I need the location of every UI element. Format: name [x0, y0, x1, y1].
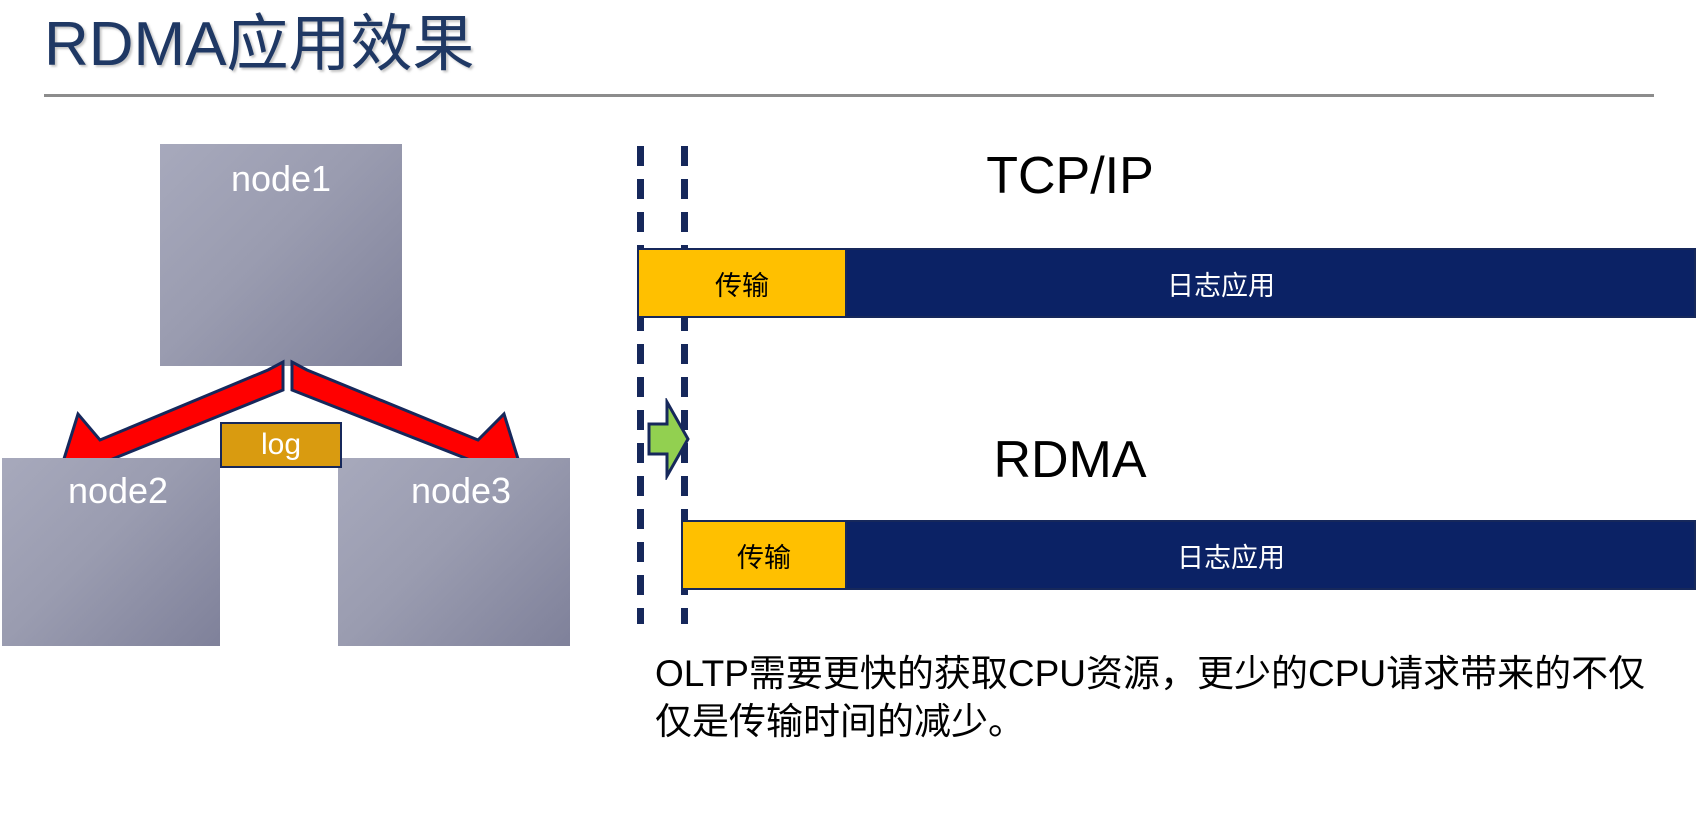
title-divider — [44, 94, 1654, 97]
tcpip-apply-segment: 日志应用 — [847, 250, 1694, 316]
tcpip-label: TCP/IP — [860, 146, 1280, 206]
node3-box: node3 — [338, 458, 570, 646]
page-title: RDMA应用效果 — [44, 2, 475, 88]
node1-label: node1 — [231, 158, 331, 199]
caption-text: OLTP需要更快的获取CPU资源，更少的CPU请求带来的不仅仅是传输时间的减少。 — [655, 650, 1665, 746]
log-box: log — [220, 422, 342, 468]
rdma-apply-segment: 日志应用 — [847, 522, 1694, 588]
rdma-label: RDMA — [860, 430, 1280, 490]
green-right-arrow-icon — [645, 398, 691, 480]
dashed-guide-line-start — [637, 146, 644, 624]
tcpip-timing-bar: 传输 日志应用 — [637, 248, 1696, 318]
rdma-transfer-segment: 传输 — [683, 522, 847, 588]
node2-label: node2 — [68, 470, 168, 511]
node3-label: node3 — [411, 470, 511, 511]
tcpip-transfer-segment: 传输 — [639, 250, 847, 316]
log-label: log — [261, 428, 301, 461]
node2-box: node2 — [2, 458, 220, 646]
rdma-timing-bar: 传输 日志应用 — [681, 520, 1696, 590]
